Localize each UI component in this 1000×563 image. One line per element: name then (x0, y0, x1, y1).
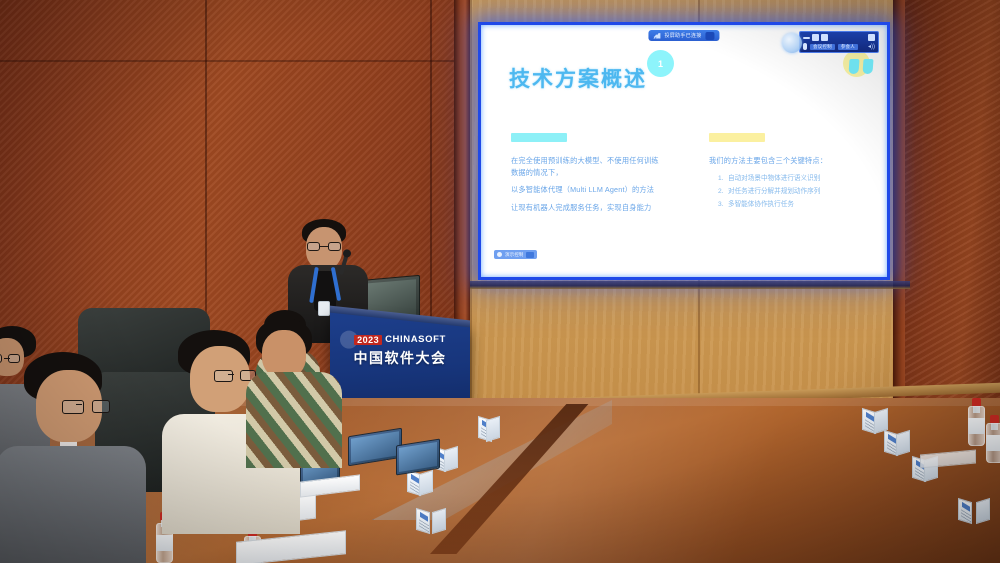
speaker-icon[interactable]: ◂)) (868, 43, 875, 50)
attendee-laptop[interactable] (396, 442, 440, 474)
podium-brand-cn: 中国软件大会 (330, 348, 470, 368)
left-paragraph-3: 让现有机器人完成服务任务，实现自身能力 (511, 202, 666, 214)
maximize-button[interactable] (812, 34, 819, 41)
conference-window-overlay[interactable]: 会议控制 参会人 ◂)) (799, 31, 879, 53)
name-placard (407, 472, 433, 494)
attendee-plaid (248, 318, 338, 448)
microphone-icon[interactable] (803, 43, 807, 50)
name-placard (958, 500, 990, 522)
right-column-list: 1.自动对场景中物体进行语义识别 2.对任务进行分解并规划动作序列 3.多智能体… (709, 172, 864, 212)
name-placard (884, 432, 910, 454)
left-highlight-bar (511, 133, 567, 142)
right-column-heading: 我们的方法主要包含三个关键特点： (709, 155, 864, 167)
podium-year: 2023 (354, 335, 382, 345)
presentation-slide: 投屏助手已连接 会议控制 参会人 (481, 25, 887, 277)
name-placard (416, 510, 446, 532)
left-column-text: 在完全使用预训练的大模型、不使用任何训练数据的情况下， 以多智能体代理（Mult… (511, 155, 666, 214)
quote-mark-decor (849, 59, 873, 74)
water-bottle[interactable] (968, 398, 985, 446)
attendee-body (0, 446, 146, 563)
list-text-3: 多智能体协作执行任务 (728, 201, 794, 208)
conference-chip-control[interactable]: 会议控制 (810, 44, 835, 50)
share-icon[interactable] (706, 32, 715, 40)
attendee-gray-sweater (10, 352, 140, 563)
list-item: 1.自动对场景中物体进行语义识别 (718, 172, 864, 185)
wall-display-screen[interactable]: 投屏助手已连接 会议控制 参会人 (478, 22, 890, 280)
slide-title: 技术方案概述 (509, 63, 647, 93)
menu-icon[interactable] (868, 34, 875, 41)
screen-share-label: 投屏助手已连接 (664, 32, 701, 39)
glasses-icon (62, 400, 110, 414)
list-item: 3.多智能体协作执行任务 (718, 198, 864, 211)
conference-room-scene: 投屏助手已连接 会议控制 参会人 (0, 0, 1000, 563)
slide-control-badge[interactable]: 演示控制 (494, 250, 537, 259)
glasses-icon (306, 242, 342, 251)
list-index-3: 3. (718, 198, 728, 211)
left-paragraph-1: 在完全使用预训练的大模型、不使用任何训练数据的情况下， (511, 155, 666, 178)
water-bottle[interactable] (986, 415, 1000, 463)
attendee-head (262, 330, 306, 378)
badge-number-one: 1 (647, 50, 674, 77)
left-paragraph-2: 以多智能体代理（Multi LLM Agent）的方法 (511, 184, 666, 196)
slide-left-column: 在完全使用预训练的大模型、不使用任何训练数据的情况下， 以多智能体代理（Mult… (511, 133, 666, 214)
right-highlight-bar (709, 133, 765, 142)
slide-control-label: 演示控制 (505, 252, 523, 258)
conference-chip-participants[interactable]: 参会人 (838, 44, 858, 50)
signal-bars-icon (653, 33, 660, 39)
minimize-button[interactable] (803, 37, 810, 39)
list-index-2: 2. (718, 185, 728, 198)
status-dot-icon (497, 252, 502, 257)
list-index-1: 1. (718, 172, 728, 185)
list-text-2: 对任务进行分解并规划动作序列 (728, 188, 820, 195)
globe-icon (782, 33, 802, 53)
screen-ledge (470, 281, 910, 289)
list-item: 2.对任务进行分解并规划动作序列 (718, 185, 864, 198)
podium-brand-en: CHINASOFT (385, 334, 446, 345)
slide-right-column: 我们的方法主要包含三个关键特点： 1.自动对场景中物体进行语义识别 2.对任务进… (709, 133, 864, 211)
close-icon[interactable] (821, 34, 828, 41)
presenter-badge (318, 301, 330, 316)
list-text-1: 自动对场景中物体进行语义识别 (728, 175, 820, 182)
conference-window-bar: 会议控制 参会人 ◂)) (799, 31, 879, 53)
name-placard (478, 418, 500, 440)
attendee-body (246, 372, 342, 468)
attendee-laptop[interactable] (348, 432, 402, 464)
name-placard (862, 410, 888, 432)
screen-share-toolbar[interactable]: 投屏助手已连接 (648, 30, 719, 41)
slide-next-button[interactable] (526, 252, 534, 258)
podium-branding: 2023 CHINASOFT 中国软件大会 (330, 334, 470, 368)
